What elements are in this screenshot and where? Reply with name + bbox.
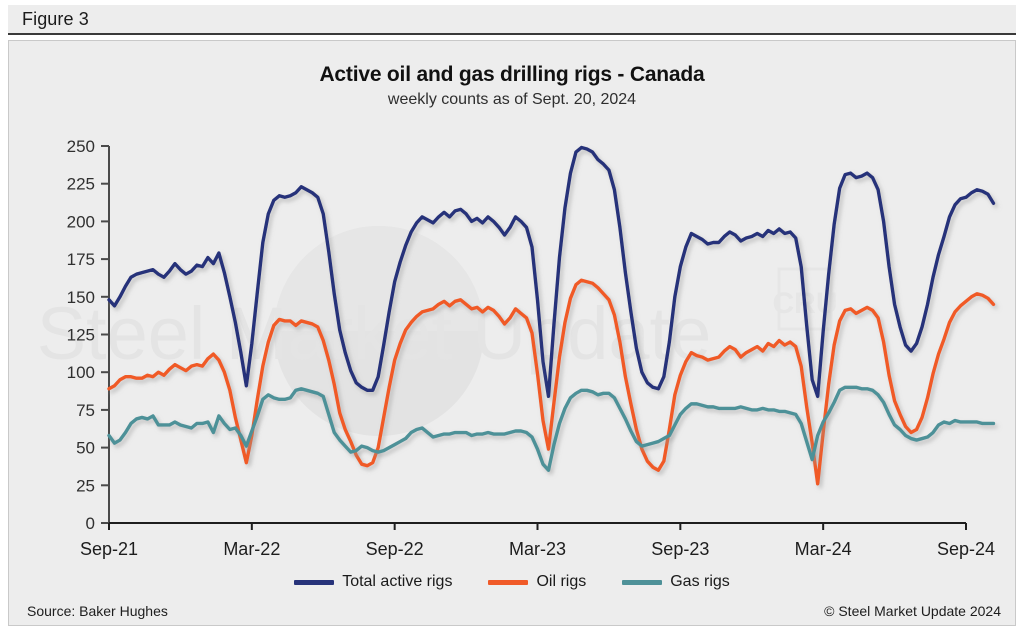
y-tick-label: 250 [67,137,95,156]
figure-label: Figure 3 [22,9,89,30]
footer-copyright: © Steel Market Update 2024 [824,603,1001,619]
legend-label-gas: Gas rigs [670,573,730,591]
chart-panel: Active oil and gas drilling rigs - Canad… [8,40,1016,626]
x-tick-label: Sep-23 [651,539,709,559]
y-tick-label: 150 [67,288,95,307]
x-tick-label: Sep-21 [80,539,138,559]
y-tick-label: 100 [67,363,95,382]
legend-swatch-total [294,580,334,585]
y-tick-label: 25 [76,476,95,495]
x-tick-label: Mar-24 [795,539,852,559]
line-chart-svg: 0255075100125150175200225250 Sep-21Mar-2… [9,41,1017,627]
x-tick-label: Sep-22 [366,539,424,559]
legend-item-oil: Oil rigs [488,573,586,591]
legend-item-gas: Gas rigs [622,573,730,591]
y-tick-label: 75 [76,401,95,420]
x-axis-ticks: Sep-21Mar-22Sep-22Mar-23Sep-23Mar-24Sep-… [80,523,995,559]
figure-page: Figure 3 Active oil and gas drilling rig… [0,0,1024,633]
series-line-total-active-rigs [109,148,993,397]
chart-legend: Total active rigs Oil rigs Gas rigs [9,573,1015,591]
y-tick-label: 125 [67,326,95,345]
y-tick-label: 200 [67,212,95,231]
x-tick-label: Mar-23 [509,539,566,559]
legend-swatch-gas [622,580,662,585]
footer-source: Source: Baker Hughes [27,603,168,619]
x-tick-label: Sep-24 [937,539,995,559]
legend-swatch-oil [488,580,528,585]
legend-item-total: Total active rigs [294,573,452,591]
x-tick-label: Mar-22 [223,539,280,559]
y-tick-label: 175 [67,250,95,269]
y-tick-label: 225 [67,175,95,194]
legend-label-oil: Oil rigs [536,573,586,591]
figure-banner: Figure 3 [8,5,1016,35]
y-axis-ticks: 0255075100125150175200225250 [67,137,109,533]
plot-area: Steel Market Update CRU 0255075100125150… [9,41,1017,627]
y-tick-label: 50 [76,439,95,458]
legend-label-total: Total active rigs [342,573,452,591]
series-lines [109,148,993,484]
y-tick-label: 0 [86,514,95,533]
